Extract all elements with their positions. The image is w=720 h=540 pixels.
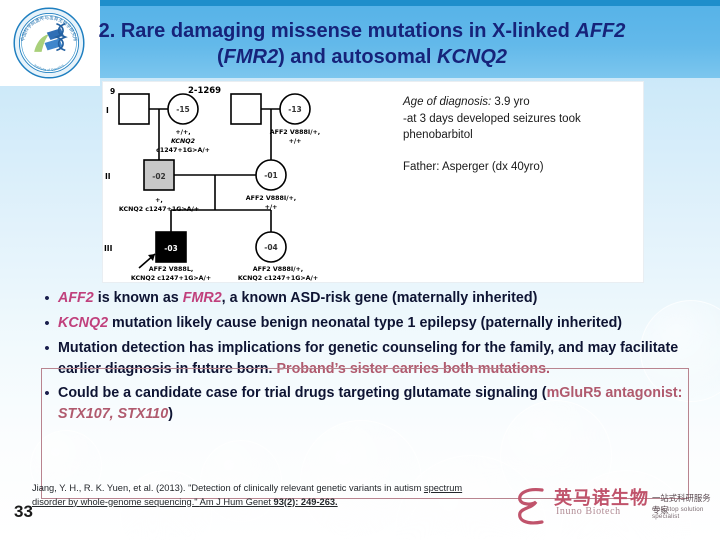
note-line-1: Age of diagnosis: 3.9 yro (403, 94, 639, 111)
node-id--03: -03 (164, 244, 178, 253)
genotype--01-line1: AFF2 V888I/+, (246, 195, 296, 202)
bullet-marker: • (36, 288, 58, 309)
note-line-2: -at 3 days developed seizures took (403, 111, 639, 128)
generation-label-II: II (105, 172, 111, 181)
title-line-1: 2. Rare damaging missense mutations in X… (99, 20, 626, 42)
genotype--15-line1: +/+, (175, 129, 190, 136)
ribbon-mark-icon (512, 486, 556, 526)
bullet-text: AFF2 is known as FMR2, a known ASD-risk … (58, 288, 696, 309)
node-id--02: -02 (152, 172, 166, 181)
node-id--01: -01 (264, 171, 278, 180)
plain-text: mutation likely cause benign neonatal ty… (108, 315, 622, 331)
clinical-note: Age of diagnosis: 3.9 yro -at 3 days dev… (403, 94, 639, 175)
plain-text: , a known ASD-risk gene (maternally inhe… (222, 290, 538, 306)
company-name-en: Inuno Biotech (556, 506, 621, 517)
pedigree-sex-marker: 9 (110, 87, 115, 96)
generation-label-III: III (104, 244, 113, 253)
generation-label-I: I (106, 106, 109, 115)
slide-title: 2. Rare damaging missense mutations in X… (62, 18, 662, 70)
genotype--15-line3: c1247+1G>A/+ (156, 147, 210, 154)
genotype--04-line2: KCNQ2 c1247+1G>A/+ (238, 275, 318, 282)
bullet-marker: • (36, 313, 58, 334)
gene-name: FMR2 (183, 290, 222, 306)
note-line-4: Father: Asperger (dx 40yro) (403, 159, 639, 176)
bullet-item: •KCNQ2 mutation likely cause benign neon… (36, 313, 696, 334)
title-gene-kcnq2: KCNQ2 (437, 46, 507, 68)
slide-canvas: 中国科学院遗传与发育生物学研究所 Institute of Genetics 2… (0, 0, 720, 540)
gene-name: AFF2 (58, 290, 94, 306)
plain-text: is known as (94, 290, 183, 306)
company-logo: 英马诺生物 Inuno Biotech 一站式科研服务专家 One stop s… (512, 486, 712, 530)
page-number: 33 (14, 502, 33, 522)
highlight-rectangle (41, 368, 689, 499)
bullet-item: •AFF2 is known as FMR2, a known ASD-risk… (36, 288, 696, 309)
title-gene-aff2: AFF2 (575, 20, 625, 42)
pedigree-diagram: 9 2-1269 I II III -15 -13 -02 -01 -03 -0… (103, 82, 403, 282)
pedigree-card: 9 2-1269 I II III -15 -13 -02 -01 -03 -0… (103, 82, 643, 282)
node-id--04: -04 (264, 243, 278, 252)
bullet-text: KCNQ2 mutation likely cause benign neona… (58, 313, 696, 334)
genotype--02-line1: +, (155, 197, 163, 204)
node-id--15: -15 (176, 105, 190, 114)
title-line-2: (FMR2) and autosomal KCNQ2 (217, 46, 507, 68)
genotype--15-line2: KCNQ2 (171, 138, 196, 145)
company-tagline-en: One stop solution specialist (652, 506, 712, 520)
genotype--13-line2: +/+ (289, 138, 302, 145)
node-id--13: -13 (288, 105, 302, 114)
pedigree-family-id: 2-1269 (188, 86, 221, 96)
genotype--04-line1: AFF2 V888I/+, (253, 266, 303, 273)
genotype--03-line2: KCNQ2 c1247+1G>A/+ (131, 275, 211, 282)
genotype--13-line1: AFF2 V888I/+, (270, 129, 320, 136)
genotype--01-line2: +/+ (265, 204, 278, 211)
genotype--02-line2: KCNQ2 c1247+1G>A/+ (119, 206, 199, 213)
gene-name: KCNQ2 (58, 315, 108, 331)
genotype--03-line1: AFF2 V888L, (149, 266, 193, 273)
title-gene-fmr2: FMR2 (224, 46, 278, 68)
citation-line-1: Jiang, Y. H., R. K. Yuen, et al. (2013).… (32, 483, 421, 493)
citation: Jiang, Y. H., R. K. Yuen, et al. (2013).… (32, 482, 492, 509)
note-line-3: phenobarbitol (403, 127, 639, 144)
